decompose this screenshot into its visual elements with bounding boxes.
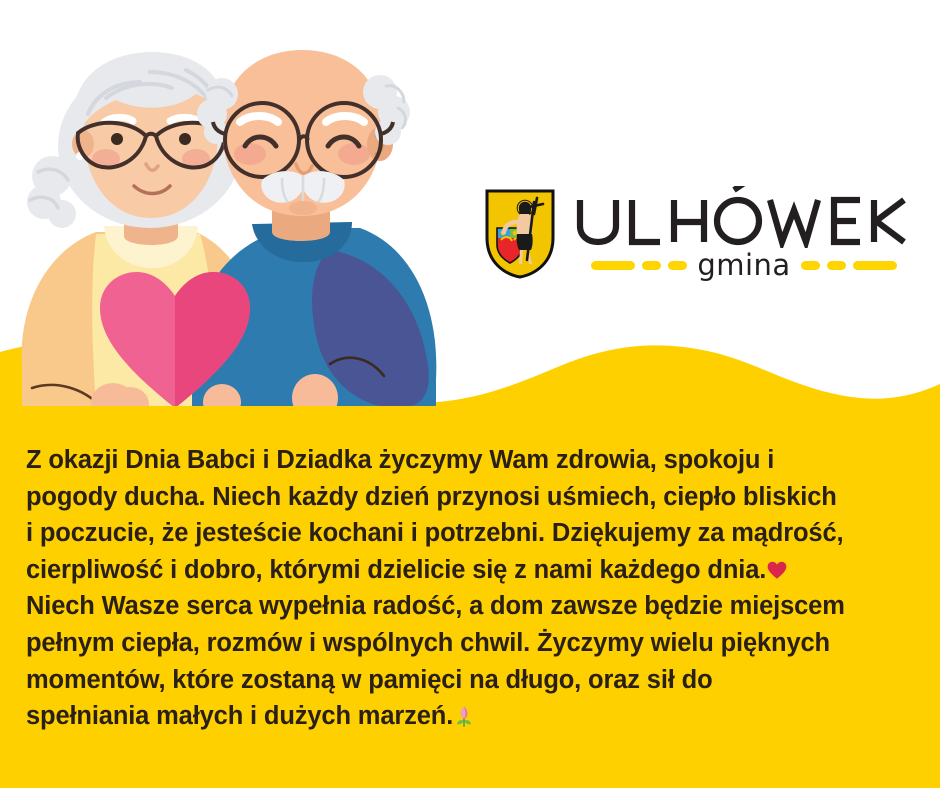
dash-right-3 [853, 261, 897, 270]
dash-left-3 [668, 261, 687, 270]
heart-emoji-icon [766, 559, 788, 581]
greeting-line-4: cierpliwość i dobro, którymi dzielicie s… [26, 556, 766, 584]
greeting-line-5: Niech Wasze serca wypełnia radość, a dom… [26, 592, 845, 620]
greeting-line-3: i poczucie, że jesteście kochani i potrz… [26, 519, 843, 547]
gmina-subtitle-row: gmina [574, 250, 914, 280]
tulip-emoji-icon [453, 705, 475, 727]
grandfather-cheek-right [338, 143, 370, 165]
dash-left-2 [642, 261, 661, 270]
greeting-text: Z okazji Dnia Babci i Dziadka życzymy Wa… [26, 442, 924, 735]
dash-right-1 [801, 261, 820, 270]
wordmark-ulhowek [574, 186, 914, 248]
greeting-line-1: Z okazji Dnia Babci i Dziadka życzymy Wa… [26, 446, 774, 474]
grandfather-chin [289, 201, 317, 215]
gmina-label: gmina [694, 250, 793, 280]
grandmother-eye-right [179, 133, 191, 145]
elderly-couple-illustration [0, 36, 450, 406]
ulhowek-logo: gmina [484, 186, 914, 294]
grandmother-hair-bun [27, 156, 76, 228]
greeting-line-2: pogody ducha. Niech każdy dzień przynosi… [26, 483, 837, 511]
greeting-poster: gmina Z okazji Dnia Babci i Dziadka życz… [0, 0, 940, 788]
grandmother-eye-left [111, 133, 123, 145]
ulhowek-coat-of-arms-icon [484, 188, 556, 280]
greeting-line-8: spełniania małych i dużych marzeń. [26, 702, 453, 730]
greeting-line-7: momentów, które zostaną w pamięci na dłu… [26, 666, 713, 694]
greeting-line-6: pełnym ciepła, rozmów i wspólnych chwil.… [26, 629, 830, 657]
logo-text-block: gmina [574, 186, 914, 280]
dash-right-2 [827, 261, 846, 270]
dash-left-1 [591, 261, 635, 270]
grandfather-cheek-left [234, 143, 266, 165]
